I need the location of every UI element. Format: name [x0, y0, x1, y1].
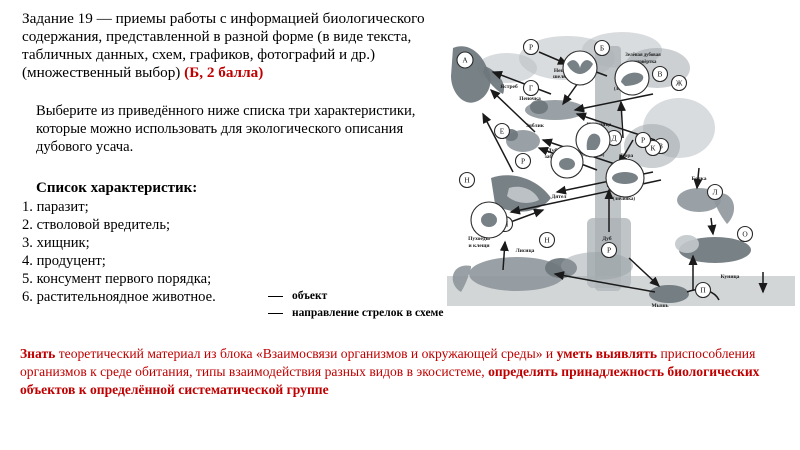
- species-label-hawk: Ястреб: [500, 83, 518, 90]
- svg-text:Д: Д: [611, 134, 616, 143]
- node-N-fox[interactable]: Н: [540, 233, 555, 248]
- node-B[interactable]: Б: [595, 41, 610, 56]
- organism-oak-image: [561, 252, 633, 280]
- svg-text:Б: Б: [600, 44, 604, 53]
- svg-text:А: А: [462, 56, 468, 65]
- node-O[interactable]: О: [738, 227, 753, 242]
- objective-identify: уметь выявлять: [557, 346, 658, 361]
- list-item[interactable]: 5. консумент первого порядка;: [22, 271, 352, 289]
- node-R-top[interactable]: Р: [524, 40, 539, 55]
- task-dash: —: [93, 10, 116, 27]
- characteristics-list-title: Список характеристик:: [36, 180, 197, 197]
- legend-dash-icon: [268, 296, 283, 297]
- list-item[interactable]: 2. стволовой вредитель;: [22, 217, 352, 235]
- node-ZH[interactable]: Ж: [672, 76, 687, 91]
- objective-know: Знать: [20, 346, 55, 361]
- task-score-badge: (Б, 2 балла): [184, 64, 263, 81]
- svg-text:Н: Н: [544, 236, 550, 245]
- learning-objectives-text: Знать теоретический материал из блока «В…: [20, 345, 782, 399]
- svg-text:Р: Р: [521, 157, 525, 166]
- svg-text:Н: Н: [464, 176, 470, 185]
- sublabel-larva-2: (личинка): [613, 197, 635, 202]
- svg-text:П: П: [700, 286, 706, 295]
- svg-text:Ж: Ж: [676, 79, 683, 88]
- species-label-woodpecker: Дятел: [552, 194, 567, 200]
- species-label-squirrel: Белка: [692, 176, 707, 182]
- list-item[interactable]: 3. хищник;: [22, 235, 352, 253]
- species-label-mouse: Мышь: [651, 303, 668, 309]
- food-web-figure: Ястреб Зелёная дубовая листовёртка Пеноч…: [447, 28, 795, 313]
- svg-text:Е: Е: [500, 127, 505, 136]
- svg-text:О: О: [742, 230, 748, 239]
- legend-dash-icon: [268, 313, 283, 314]
- svg-text:Р: Р: [529, 43, 533, 52]
- node-R-geometer[interactable]: Р: [636, 133, 651, 148]
- legend-row-object: объект: [268, 288, 443, 305]
- species-label-fox: Лисица: [516, 248, 535, 254]
- legend-label: направление стрелок в схеме: [292, 305, 443, 322]
- task-id: Задание 19: [22, 10, 93, 27]
- node-R-beetle[interactable]: Р: [516, 154, 531, 169]
- species-label-warbler: Пеночка: [519, 96, 541, 102]
- node-G[interactable]: Г: [524, 81, 539, 96]
- sublabel-bark: Кора: [621, 153, 634, 159]
- organism-squirrel-image: [677, 188, 734, 224]
- slide-root: Задание 19 — приемы работы с информацией…: [0, 0, 800, 450]
- node-V[interactable]: В: [653, 67, 668, 82]
- species-label-mites-2: и клещи: [468, 243, 490, 249]
- svg-text:Л: Л: [712, 188, 717, 197]
- species-label-leafroller-1: Зелёная дубовая: [625, 53, 661, 58]
- list-item[interactable]: 1. паразит;: [22, 199, 352, 217]
- svg-text:Г: Г: [529, 84, 534, 93]
- node-A[interactable]: А: [457, 52, 473, 68]
- task-header: Задание 19 — приемы работы с информацией…: [22, 10, 442, 82]
- svg-text:Р: Р: [641, 136, 645, 145]
- list-item[interactable]: 4. продуцент;: [22, 253, 352, 271]
- objective-text-1: теоретический материал из блока «Взаимос…: [55, 346, 556, 361]
- legend-row-arrows: направление стрелок в схеме: [268, 305, 443, 322]
- legend-label: объект: [292, 288, 327, 305]
- svg-text:К: К: [651, 144, 656, 153]
- species-label-oak: Дуб: [602, 235, 611, 242]
- species-label-chaffinch: Зяблик: [526, 122, 545, 129]
- node-E[interactable]: Е: [495, 124, 510, 139]
- node-L[interactable]: Л: [708, 185, 723, 200]
- node-N[interactable]: Н: [460, 173, 475, 188]
- species-label-marten: Куница: [721, 274, 740, 280]
- question-text: Выберите из приведённого ниже списка три…: [36, 103, 436, 156]
- node-R-oak[interactable]: Р: [602, 243, 617, 258]
- node-P[interactable]: П: [696, 283, 711, 298]
- svg-text:В: В: [658, 70, 663, 79]
- diagram-legend: объект направление стрелок в схеме: [268, 288, 443, 321]
- svg-text:Р: Р: [607, 246, 611, 255]
